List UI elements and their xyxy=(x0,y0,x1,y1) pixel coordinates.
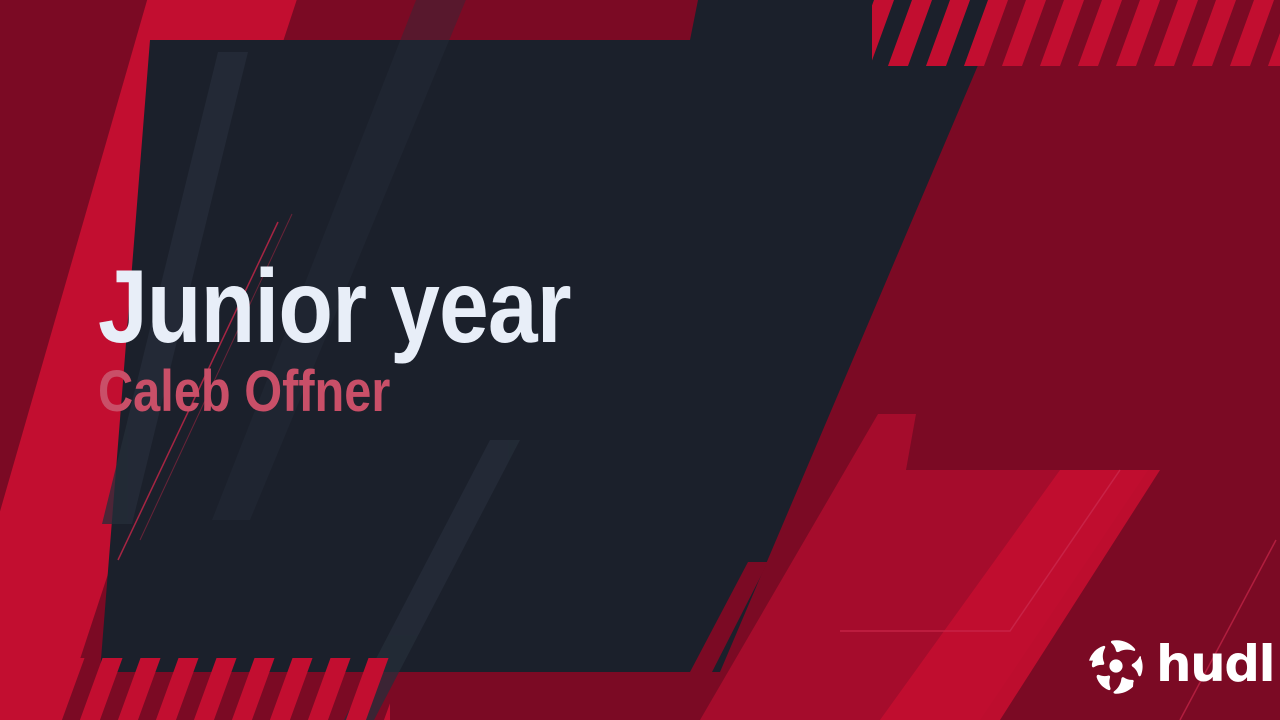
athlete-name: Caleb Offner xyxy=(98,363,636,421)
hatch-band-bottom-left xyxy=(0,658,390,720)
hudl-wordmark: hudl xyxy=(1156,639,1274,689)
hatch-band-top-right xyxy=(872,0,1280,66)
hudl-logo: hudl xyxy=(1086,633,1274,701)
hudl-triskelion-icon xyxy=(1086,638,1146,696)
hudl-highlight-title-slide: Junior year Caleb Offner hudl xyxy=(0,0,1280,720)
title-text-block: Junior year Caleb Offner xyxy=(98,258,738,421)
page-title: Junior year xyxy=(98,258,648,357)
